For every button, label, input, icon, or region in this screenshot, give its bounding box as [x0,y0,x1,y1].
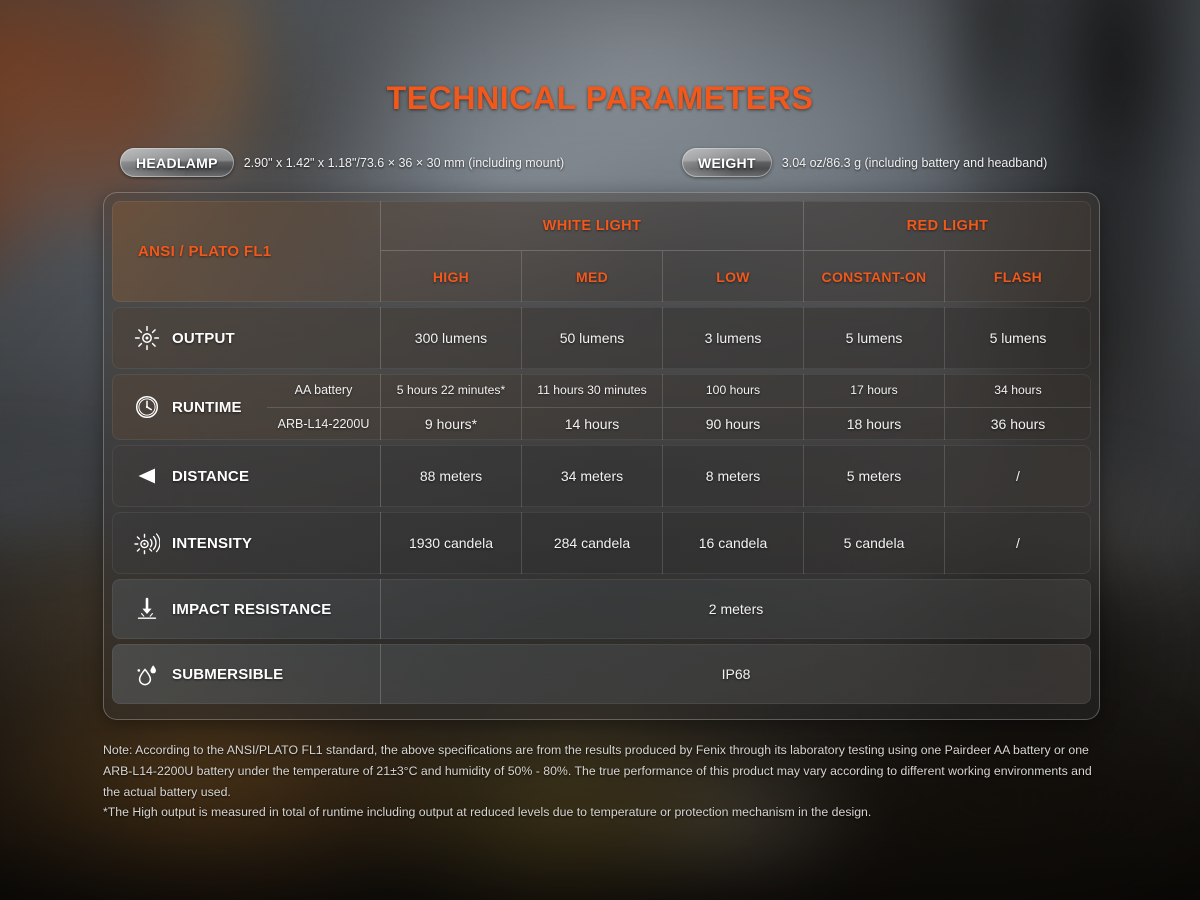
intensity-med: 284 candela [522,512,663,574]
row-label-output: OUTPUT [112,307,381,369]
row-label-distance: DISTANCE [112,445,381,507]
intensity-low: 16 candela [663,512,804,574]
ansi-plato-standard-label: ANSI / PLATO FL1 [112,201,381,302]
sun-waves-icon [134,530,160,556]
intensity-high: 1930 candela [381,512,522,574]
runtime-arb-constant-on: 18 hours [804,408,945,441]
mode-flash: FLASH [945,251,1091,302]
mode-constant-on: CONSTANT-ON [804,251,945,302]
row-values-submersible: IP68 [381,644,1091,704]
group-white-light: WHITE LIGHT [381,201,804,250]
beam-triangle-icon [134,463,160,489]
row-label-distance-text: DISTANCE [172,468,249,485]
output-high: 300 lumens [381,307,522,369]
distance-constant-on: 5 meters [804,445,945,507]
runtime-aa-med: 11 hours 30 minutes [522,374,663,407]
distance-low: 8 meters [663,445,804,507]
output-constant-on: 5 lumens [804,307,945,369]
table-header-row: ANSI / PLATO FL1 WHITE LIGHT RED LIGHT H… [112,201,1091,302]
row-values-distance: 88 meters 34 meters 8 meters 5 meters / [381,445,1091,507]
spec-chips-row: HEADLAMP 2.90" x 1.42" x 1.18"/73.6 × 36… [120,148,1100,180]
row-label-runtime: RUNTIME [112,374,267,440]
battery-name-aa: AA battery [267,374,381,407]
runtime-arb-flash: 36 hours [945,408,1091,441]
mode-med: MED [522,251,663,302]
runtime-arb-med: 14 hours [522,408,663,441]
row-label-intensity: INTENSITY [112,512,381,574]
intensity-flash: / [945,512,1091,574]
sun-icon [134,325,160,351]
mode-low: LOW [663,251,804,302]
row-values-impact-resistance: 2 meters [381,579,1091,639]
row-values-intensity: 1930 candela 284 candela 16 candela 5 ca… [381,512,1091,574]
impact-resistance-value: 2 meters [381,579,1091,639]
table-row-distance: DISTANCE 88 meters 34 meters 8 meters 5 … [112,445,1091,507]
submersible-value: IP68 [381,644,1091,704]
footnote: Note: According to the ANSI/PLATO FL1 st… [103,740,1103,823]
technical-parameters-page: TECHNICAL PARAMETERS HEADLAMP 2.90" x 1.… [0,0,1200,900]
headlamp-pill: HEADLAMP [120,148,234,177]
spec-weight: WEIGHT 3.04 oz/86.3 g (including battery… [682,148,1047,177]
runtime-aa-flash: 34 hours [945,374,1091,407]
runtime-row-aa-battery: AA battery 5 hours 22 minutes* 11 hours … [267,374,1091,407]
water-drop-icon [134,661,160,687]
row-label-submersible: SUBMERSIBLE [112,644,381,704]
row-values-output: 300 lumens 50 lumens 3 lumens 5 lumens 5… [381,307,1091,369]
table-row-output: OUTPUT 300 lumens 50 lumens 3 lumens 5 l… [112,307,1091,369]
specifications-table: ANSI / PLATO FL1 WHITE LIGHT RED LIGHT H… [103,192,1100,720]
runtime-aa-high: 5 hours 22 minutes* [381,374,522,407]
footnote-line-1: Note: According to the ANSI/PLATO FL1 st… [103,740,1103,802]
weight-value: 3.04 oz/86.3 g (including battery and he… [782,156,1047,170]
clock-icon [134,394,160,420]
output-flash: 5 lumens [945,307,1091,369]
battery-name-arb: ARB-L14-2200U [267,408,381,441]
page-title: TECHNICAL PARAMETERS [0,80,1200,117]
distance-high: 88 meters [381,445,522,507]
runtime-row-arb-battery: ARB-L14-2200U 9 hours* 14 hours 90 hours… [267,407,1091,441]
intensity-constant-on: 5 candela [804,512,945,574]
table-row-runtime: RUNTIME AA battery 5 hours 22 minutes* 1… [112,374,1091,440]
table-row-impact-resistance: IMPACT RESISTANCE 2 meters [112,579,1091,639]
headlamp-dimensions-value: 2.90" x 1.42" x 1.18"/73.6 × 36 × 30 mm … [244,156,564,170]
distance-flash: / [945,445,1091,507]
runtime-arb-low: 90 hours [663,408,804,441]
table-row-submersible: SUBMERSIBLE IP68 [112,644,1091,704]
row-label-intensity-text: INTENSITY [172,535,252,552]
output-med: 50 lumens [522,307,663,369]
runtime-arb-high: 9 hours* [381,408,522,441]
row-label-impact-resistance-text: IMPACT RESISTANCE [172,601,332,618]
table-header-columns: WHITE LIGHT RED LIGHT HIGH MED LOW CONST… [381,201,1091,302]
row-label-output-text: OUTPUT [172,330,235,347]
runtime-aa-constant-on: 17 hours [804,374,945,407]
light-group-header: WHITE LIGHT RED LIGHT [381,201,1091,251]
distance-med: 34 meters [522,445,663,507]
mode-high: HIGH [381,251,522,302]
runtime-aa-low: 100 hours [663,374,804,407]
mode-header-row: HIGH MED LOW CONSTANT-ON FLASH [381,251,1091,302]
spec-headlamp: HEADLAMP 2.90" x 1.42" x 1.18"/73.6 × 36… [120,148,564,177]
weight-pill: WEIGHT [682,148,772,177]
group-red-light: RED LIGHT [804,201,1091,250]
headlamp-pill-label: HEADLAMP [136,155,218,171]
impact-arrow-icon [134,596,160,622]
table-row-intensity: INTENSITY 1930 candela 284 candela 16 ca… [112,512,1091,574]
footnote-line-2: *The High output is measured in total of… [103,802,1103,823]
row-label-runtime-text: RUNTIME [172,399,242,416]
output-low: 3 lumens [663,307,804,369]
runtime-subtable: AA battery 5 hours 22 minutes* 11 hours … [267,374,1091,440]
row-label-submersible-text: SUBMERSIBLE [172,666,283,683]
weight-pill-label: WEIGHT [698,155,756,171]
row-label-impact-resistance: IMPACT RESISTANCE [112,579,381,639]
